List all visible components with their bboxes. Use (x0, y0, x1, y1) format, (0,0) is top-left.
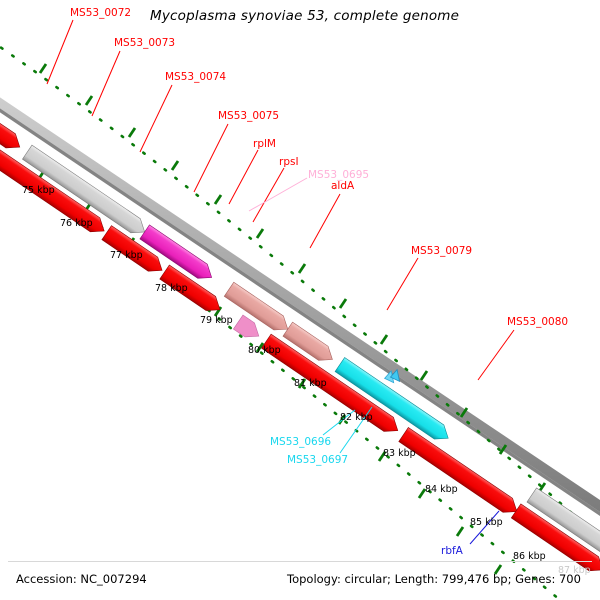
page-title: Mycoplasma synoviae 53, complete genome (150, 8, 459, 24)
gene-label-ms53-0074[interactable]: MS53_0074 (165, 71, 226, 83)
genome-backbone[interactable] (0, 92, 600, 516)
genome-map-viewport: Mycoplasma synoviae 53, complete genome … (0, 0, 600, 600)
scale-tick-78kbp: 78 kbp (155, 283, 188, 294)
scale-tick-81kbp: 81 kbp (294, 378, 327, 389)
gene-label-rpsi[interactable]: rpsI (279, 156, 299, 168)
gene-label-ms53-0696[interactable]: MS53_0696 (270, 436, 331, 448)
gene-label-rplm[interactable]: rplM (253, 138, 276, 150)
scale-tick-82kbp: 82 kbp (340, 412, 373, 423)
gene-label-ms53-0072[interactable]: MS53_0072 (70, 7, 131, 19)
status-bar-divider (8, 561, 592, 562)
gene-label-ms53-0073[interactable]: MS53_0073 (114, 37, 175, 49)
scale-tick-75kbp: 75 kbp (22, 185, 55, 196)
scale-tick-84kbp: 84 kbp (425, 484, 458, 495)
gene-label-ms53-0697[interactable]: MS53_0697 (287, 454, 348, 466)
gene-label-rbfa[interactable]: rbfA (441, 545, 463, 557)
scale-tick-85kbp: 85 kbp (470, 517, 503, 528)
scale-tick-79kbp: 79 kbp (200, 315, 233, 326)
gene-label-ms53-0079[interactable]: MS53_0079 (411, 245, 472, 257)
scale-tick-77kbp: 77 kbp (110, 250, 143, 261)
gene-label-alda[interactable]: aldA (331, 180, 354, 192)
accession-text: Accession: NC_007294 (16, 572, 147, 586)
genome-map-canvas[interactable] (0, 0, 600, 600)
gene-label-ms53-0080[interactable]: MS53_0080 (507, 316, 568, 328)
genome-info-text: Topology: circular; Length: 799,476 bp; … (287, 572, 581, 586)
gene-label-ms53-0075[interactable]: MS53_0075 (218, 110, 279, 122)
scale-tick-80kbp: 80 kbp (248, 345, 281, 356)
scale-tick-76kbp: 76 kbp (60, 218, 93, 229)
scale-tick-83kbp: 83 kbp (383, 448, 416, 459)
